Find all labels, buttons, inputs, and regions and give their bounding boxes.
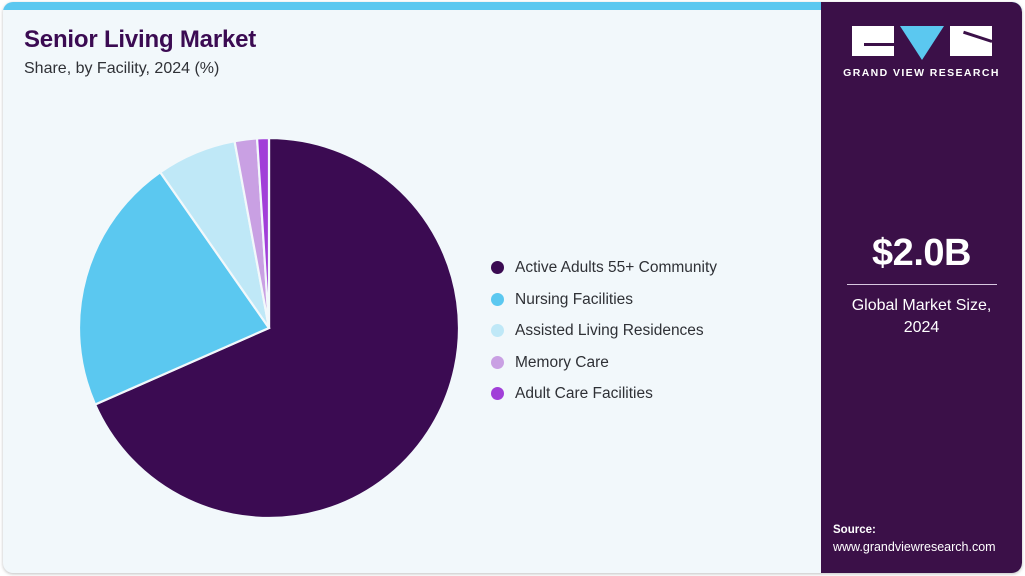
legend-item[interactable]: Nursing Facilities [491, 284, 801, 316]
legend-item-label: Memory Care [515, 355, 609, 371]
legend-color-swatch-icon [491, 293, 504, 306]
legend-item[interactable]: Active Adults 55+ Community [491, 252, 801, 284]
logo-g-icon [852, 26, 894, 56]
brand-logo: GRAND VIEW RESEARCH [821, 26, 1022, 79]
legend-color-swatch-icon [491, 356, 504, 369]
source-title: Source: [833, 522, 1018, 539]
pie-slice-group [79, 138, 459, 518]
logo-r-icon [950, 26, 992, 56]
chart-legend: Active Adults 55+ Community Nursing Faci… [491, 252, 801, 410]
stat-divider [847, 284, 997, 285]
chart-area: Active Adults 55+ Community Nursing Faci… [3, 2, 823, 573]
pie-chart [79, 138, 459, 518]
logo-v-triangle-icon [900, 26, 944, 60]
pie-chart-svg [79, 138, 459, 518]
legend-item[interactable]: Assisted Living Residences [491, 315, 801, 347]
legend-color-swatch-icon [491, 324, 504, 337]
legend-item-label: Active Adults 55+ Community [515, 260, 717, 276]
legend-item-label: Nursing Facilities [515, 292, 633, 308]
infographic-card: Senior Living Market Share, by Facility,… [3, 2, 1022, 573]
legend-item[interactable]: Memory Care [491, 347, 801, 379]
source-block: Source: www.grandviewresearch.com [833, 522, 1018, 556]
legend-item-label: Assisted Living Residences [515, 323, 704, 339]
source-url[interactable]: www.grandviewresearch.com [833, 539, 1018, 555]
screenshot-canvas: Senior Living Market Share, by Facility,… [0, 0, 1025, 576]
logo-marks [821, 26, 1022, 60]
stat-value: $2.0B [821, 234, 1022, 272]
legend-item[interactable]: Adult Care Facilities [491, 378, 801, 410]
stat-label: Global Market Size, 2024 [821, 295, 1022, 338]
legend-item-label: Adult Care Facilities [515, 386, 653, 402]
legend-color-swatch-icon [491, 387, 504, 400]
brand-sidebar: GRAND VIEW RESEARCH $2.0B Global Market … [821, 2, 1022, 573]
legend-color-swatch-icon [491, 261, 504, 274]
brand-name: GRAND VIEW RESEARCH [821, 67, 1022, 79]
market-size-stat: $2.0B Global Market Size, 2024 [821, 234, 1022, 338]
